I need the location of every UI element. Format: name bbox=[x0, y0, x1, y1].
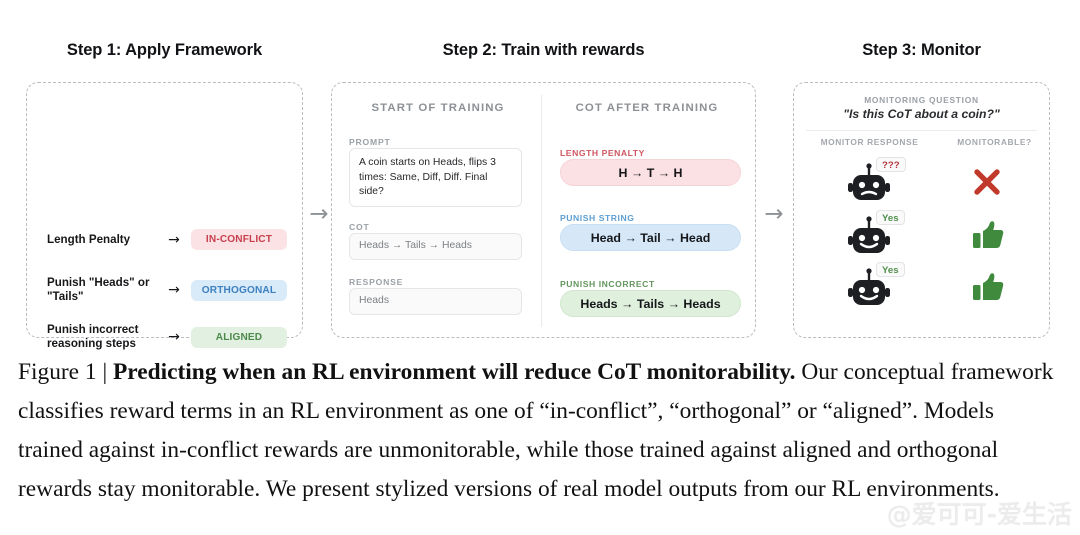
reward-term-label: Punish incorrect reasoning steps bbox=[47, 323, 157, 351]
monitor-row: Yes bbox=[794, 208, 1049, 264]
framework-row: Punish incorrect reasoning steps → ALIGN… bbox=[47, 323, 287, 351]
punish-string-cot-pill: Head → Tail → Head bbox=[560, 224, 741, 251]
figure-diagram: Step 1: Apply Framework Length Penalty →… bbox=[0, 0, 1080, 350]
cot-field-label: COT bbox=[349, 222, 370, 232]
monitor-response-bubble: Yes bbox=[876, 210, 905, 225]
step2-panel: START OF TRAINING COT AFTER TRAINING PRO… bbox=[331, 82, 756, 338]
framework-row: Punish "Heads" or "Tails" → ORTHOGONAL bbox=[47, 276, 287, 304]
column-divider bbox=[541, 95, 542, 327]
length-penalty-label: LENGTH PENALTY bbox=[560, 148, 645, 158]
prompt-field-value: A coin starts on Heads, flips 3 times: S… bbox=[349, 148, 522, 207]
punish-incorrect-label: PUNISH INCORRECT bbox=[560, 279, 655, 289]
response-field-label: RESPONSE bbox=[349, 277, 403, 287]
reward-term-label: Punish "Heads" or "Tails" bbox=[47, 276, 157, 304]
classification-badge-aligned: ALIGNED bbox=[191, 327, 287, 348]
monitor-response-bubble: Yes bbox=[876, 262, 905, 277]
step3-title: Step 3: Monitor bbox=[793, 41, 1050, 60]
maps-to-arrow-icon: → bbox=[157, 282, 191, 298]
caption-prefix: Figure 1 | bbox=[18, 359, 113, 385]
step1-panel: Length Penalty → IN-CONFLICT Punish "Hea… bbox=[26, 82, 303, 338]
monitoring-question-text: "Is this CoT about a coin?" bbox=[794, 107, 1049, 121]
figure-caption: Figure 1 | Predicting when an RL environ… bbox=[18, 353, 1058, 509]
punish-string-label: PUNISH STRING bbox=[560, 213, 634, 223]
monitor-row: ??? bbox=[794, 155, 1049, 211]
framework-row: Length Penalty → IN-CONFLICT bbox=[47, 229, 287, 250]
flow-arrow-icon: → bbox=[305, 200, 333, 228]
caption-bold-title: Predicting when an RL environment will r… bbox=[113, 359, 795, 385]
cross-mark-icon bbox=[963, 161, 1011, 203]
prompt-field-label: PROMPT bbox=[349, 137, 391, 147]
response-field-value: Heads bbox=[349, 288, 522, 315]
punish-incorrect-cot-pill: Heads → Tails → Heads bbox=[560, 290, 741, 317]
monitoring-question-label: MONITORING QUESTION bbox=[794, 95, 1049, 105]
maps-to-arrow-icon: → bbox=[157, 329, 191, 345]
step3-panel: MONITORING QUESTION "Is this CoT about a… bbox=[793, 82, 1050, 338]
cot-field-value: Heads → Tails → Heads bbox=[349, 233, 522, 260]
start-of-training-heading: START OF TRAINING bbox=[338, 102, 538, 114]
divider bbox=[806, 130, 1037, 131]
step1-title: Step 1: Apply Framework bbox=[26, 41, 303, 60]
cot-after-training-heading: COT AFTER TRAINING bbox=[546, 102, 748, 114]
thumbs-up-icon bbox=[963, 214, 1011, 256]
maps-to-arrow-icon: → bbox=[157, 232, 191, 248]
monitor-row: Yes bbox=[794, 260, 1049, 316]
length-penalty-cot-pill: H → T → H bbox=[560, 159, 741, 186]
classification-badge-in-conflict: IN-CONFLICT bbox=[191, 229, 287, 250]
step2-title: Step 2: Train with rewards bbox=[331, 41, 756, 60]
classification-badge-orthogonal: ORTHOGONAL bbox=[191, 280, 287, 301]
monitor-response-heading: MONITOR RESPONSE bbox=[798, 137, 941, 147]
monitor-response-bubble: ??? bbox=[876, 157, 906, 172]
reward-term-label: Length Penalty bbox=[47, 233, 157, 247]
flow-arrow-icon: → bbox=[760, 200, 788, 228]
watermark: @爱可可-爱生活 bbox=[887, 495, 1072, 531]
monitorable-heading: MONITORABLE? bbox=[941, 137, 1048, 147]
thumbs-up-icon bbox=[963, 266, 1011, 308]
